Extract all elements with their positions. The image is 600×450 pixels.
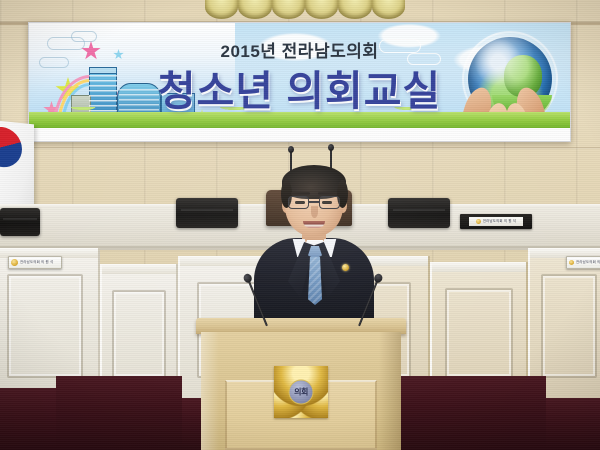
podium-front-face: 의회 <box>201 332 401 450</box>
lens-left <box>288 196 309 209</box>
monitor-left <box>176 198 238 228</box>
chamber-base-right <box>396 376 546 450</box>
nameplate-text: 전라남도의회 의 원 석 <box>483 219 516 223</box>
eyebrow-right <box>318 192 337 195</box>
desk-inset <box>541 274 597 378</box>
monitor-right <box>388 198 450 228</box>
eyebrow-left <box>291 192 310 195</box>
lens-right <box>319 196 340 209</box>
nameplate-text: 전라남도의회 의 원 석 <box>576 260 600 264</box>
mouth <box>303 221 325 228</box>
nameplate-center-right: 전라남도의회 의 원 석 <box>460 214 532 229</box>
emblem-disc: 의회 <box>289 380 314 405</box>
nameplate-left: 전라남도의회 의 원 석 <box>8 256 62 269</box>
monitor-far-left <box>0 208 40 236</box>
desk-inset <box>112 290 165 378</box>
chamber-base-left-2 <box>56 376 182 450</box>
taeguk-symbol <box>0 125 22 169</box>
photo-scene: 2015년 전라남도의회 청소년 의회교실 <box>0 0 600 450</box>
nameplate-text: 전라남도의회 의 원 석 <box>20 260 53 264</box>
mic-stem <box>358 276 380 327</box>
seal-icon <box>569 260 574 265</box>
emblem-text: 의회 <box>294 387 308 398</box>
desk-cap <box>432 262 526 272</box>
mic-head <box>242 273 253 284</box>
wall-seam <box>0 147 600 149</box>
nameplate-insert: 전라남도의회 의 원 석 <box>469 217 522 226</box>
gooseneck-microphone-head <box>288 146 294 153</box>
banner-title: 청소년 의회교실 <box>29 57 570 117</box>
speaking-podium: 의회 <box>196 318 406 450</box>
chamber-base-far-right <box>546 398 600 450</box>
banner-footer <box>29 128 570 141</box>
mic-stem <box>246 275 268 326</box>
desk-cap <box>102 264 176 274</box>
seal-icon <box>11 259 18 266</box>
nose <box>311 206 318 218</box>
assembly-emblem-icon: 의회 <box>274 366 328 418</box>
desk-inset <box>445 288 513 378</box>
desk-inset <box>7 274 83 378</box>
necktie <box>308 257 322 305</box>
gooseneck-microphone-head <box>328 144 334 151</box>
valance-decoration <box>205 0 405 19</box>
nameplate-right: 전라남도의회 의 원 석 <box>566 256 600 269</box>
event-banner: 2015년 전라남도의회 청소년 의회교실 <box>28 22 571 142</box>
lapel-pin-icon <box>342 264 349 271</box>
seal-icon <box>476 219 481 224</box>
glasses-bridge <box>309 201 319 203</box>
